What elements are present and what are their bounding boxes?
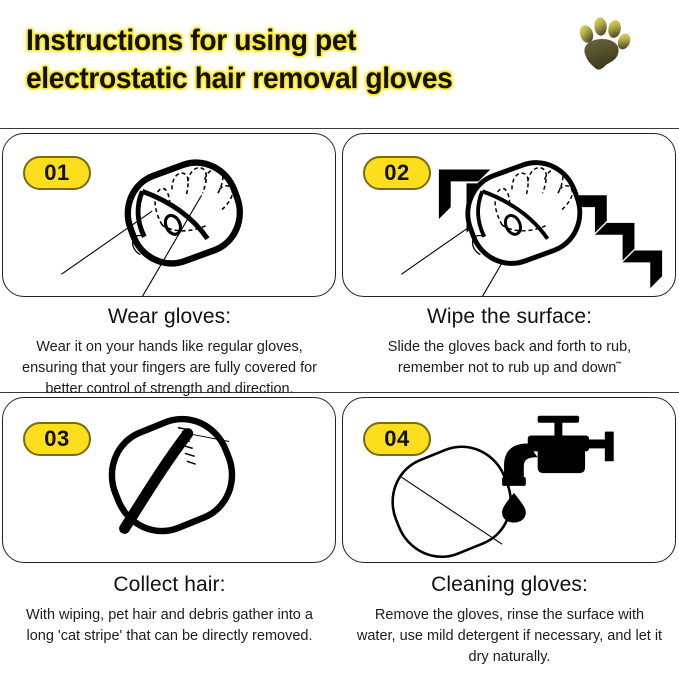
step-03-number-badge: 03 xyxy=(23,422,91,456)
step-04-title: Cleaning gloves: xyxy=(340,573,679,597)
step-04-illustration-panel: 04 xyxy=(342,397,676,563)
step-03-title: Collect hair: xyxy=(0,573,339,597)
page-title: Instructions for using pet electrostatic… xyxy=(26,22,609,98)
page-title-line-1: Instructions for using pet xyxy=(26,22,609,60)
step-card-02: 02 Wipe the surface: Slide the gloves ba… xyxy=(340,129,679,392)
step-01-body: Wear it on your hands like regular glove… xyxy=(0,337,339,400)
step-02-caption: Wipe the surface: Slide the gloves back … xyxy=(340,305,679,379)
step-04-body: Remove the gloves, rinse the surface wit… xyxy=(340,605,679,668)
infographic-page: Instructions for using pet electrostatic… xyxy=(0,0,679,679)
step-03-caption: Collect hair: With wiping, pet hair and … xyxy=(0,573,339,647)
step-02-illustration-panel: 02 xyxy=(342,133,676,297)
step-04-caption: Cleaning gloves: Remove the gloves, rins… xyxy=(340,573,679,668)
faucet-icon xyxy=(502,416,614,523)
step-02-body: Slide the gloves back and forth to rub, … xyxy=(340,337,679,379)
step-02-number-badge: 02 xyxy=(363,156,431,190)
step-01-illustration-panel: 01 xyxy=(2,133,336,297)
step-04-number-badge: 04 xyxy=(363,422,431,456)
step-01-caption: Wear gloves: Wear it on your hands like … xyxy=(0,305,339,400)
step-03-body: With wiping, pet hair and debris gather … xyxy=(0,605,339,647)
header: Instructions for using pet electrostatic… xyxy=(0,0,679,128)
step-02-title: Wipe the surface: xyxy=(340,305,679,329)
step-01-title: Wear gloves: xyxy=(0,305,339,329)
paw-print-icon xyxy=(572,14,634,76)
step-card-03: 03 Collect hair: With wiping, pet hair a… xyxy=(0,393,339,679)
step-card-04: 04 Cleaning gloves: Remove the gloves, r… xyxy=(340,393,679,679)
page-title-line-2: electrostatic hair removal gloves xyxy=(26,60,609,98)
step-03-illustration-panel: 03 xyxy=(2,397,336,563)
step-card-01: 01 Wear gloves: Wear it on your hands li… xyxy=(0,129,339,392)
step-01-number-badge: 01 xyxy=(23,156,91,190)
